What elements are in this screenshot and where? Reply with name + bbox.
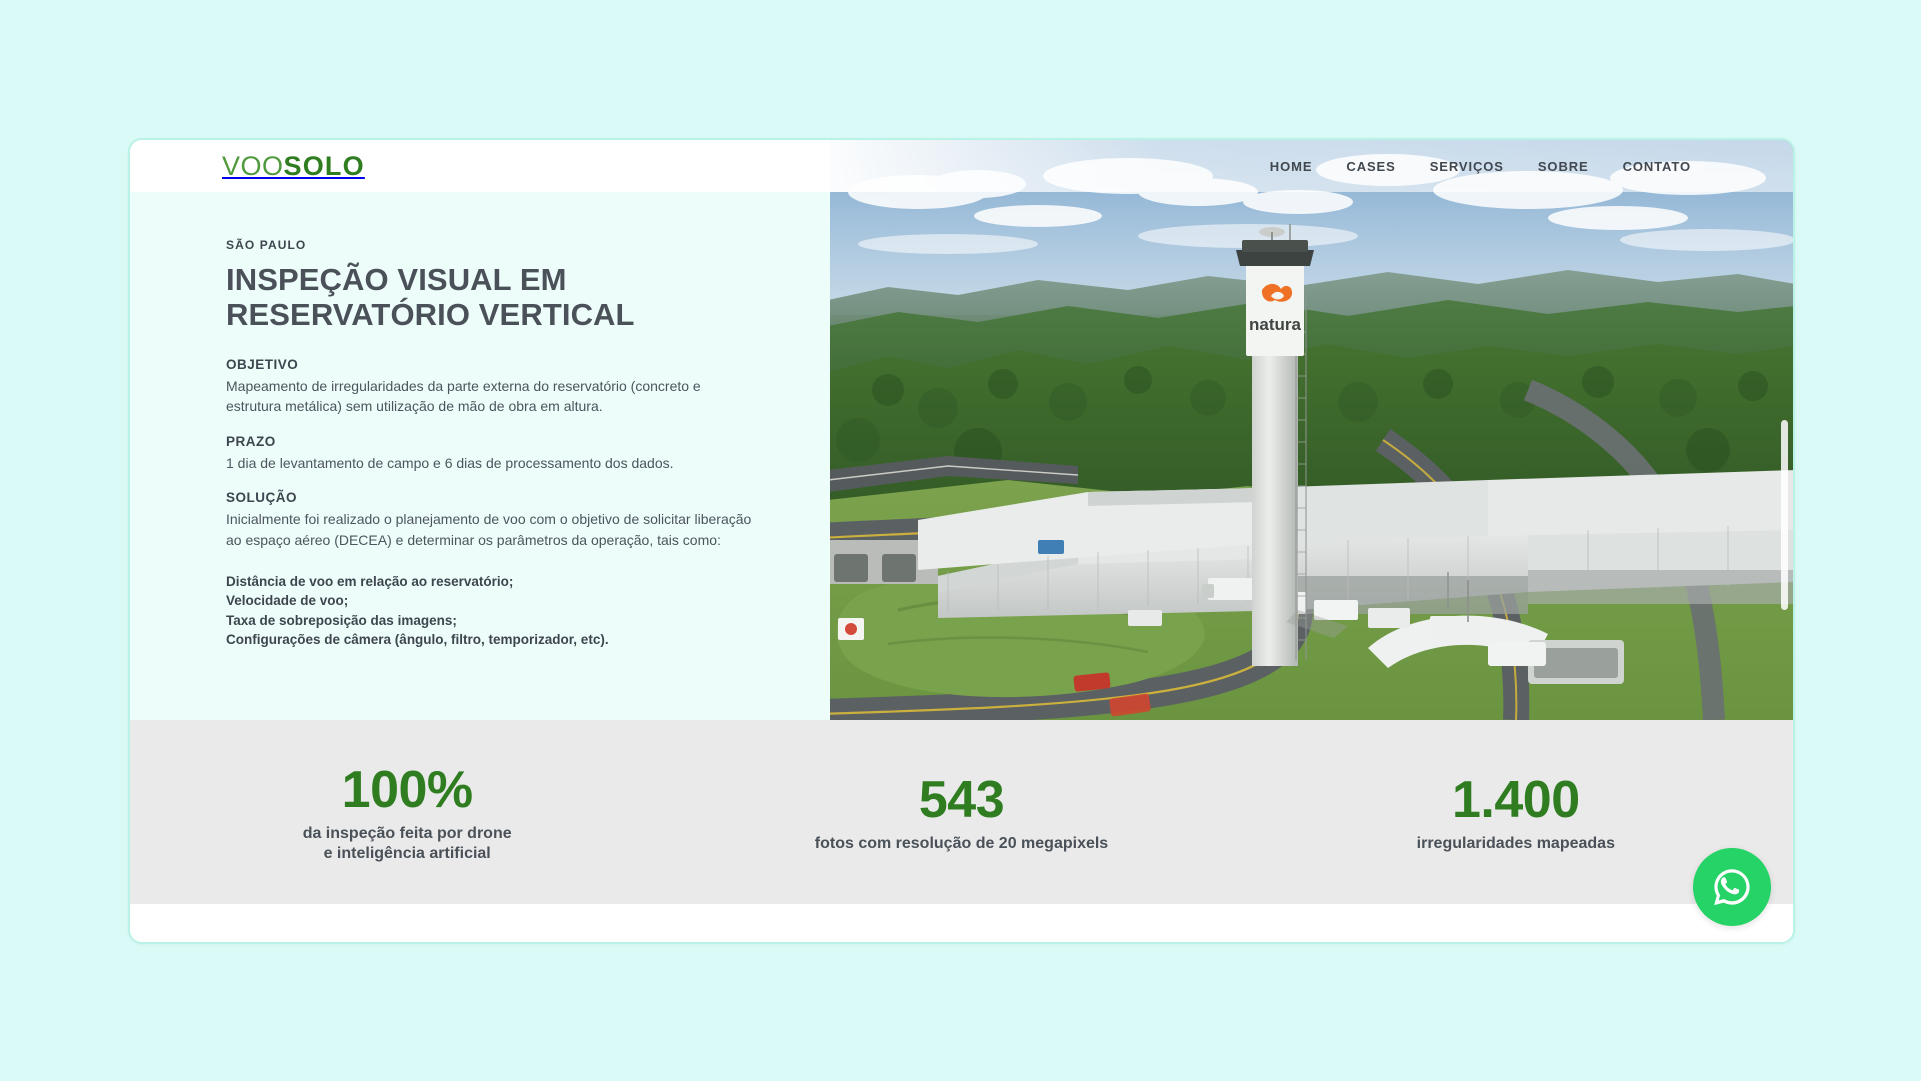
location-eyebrow: SÃO PAULO <box>226 238 756 252</box>
aerial-photo-illustration: natura <box>830 140 1793 720</box>
section-solucao-body: Inicialmente foi realizado o planejament… <box>226 509 756 550</box>
tower-logo-text: natura <box>1249 315 1302 334</box>
stat-irregularities-mapped: 1.400 irregularidades mapeadas <box>1239 773 1793 854</box>
stat-value: 543 <box>694 773 1228 828</box>
page-title: INSPEÇÃO VISUAL EM RESERVATÓRIO VERTICAL <box>226 262 756 332</box>
stat-inspection-coverage: 100% da inspeção feita por drone e intel… <box>130 763 684 865</box>
section-objetivo-title: OBJETIVO <box>226 357 756 372</box>
logo-text-solo: SOLO <box>284 151 365 181</box>
stat-label: irregularidades mapeadas <box>1249 834 1783 855</box>
main-navigation: HOME CASES SERVIÇOS SOBRE CONTATO <box>1270 159 1691 174</box>
site-logo[interactable]: VOOSOLO <box>222 153 365 180</box>
nav-item-home[interactable]: HOME <box>1270 159 1313 174</box>
nav-item-sobre[interactable]: SOBRE <box>1538 159 1589 174</box>
hero-photo: natura <box>830 140 1793 720</box>
section-solucao: SOLUÇÃO Inicialmente foi realizado o pla… <box>226 490 756 550</box>
section-objetivo: OBJETIVO Mapeamento de irregularidades d… <box>226 357 756 417</box>
page-title-line-2: RESERVATÓRIO VERTICAL <box>226 297 635 332</box>
stats-band: 100% da inspeção feita por drone e intel… <box>130 720 1793 908</box>
hero-section: natura VOOSOLO HOME CASES <box>130 140 1793 720</box>
list-item: Configurações de câmera (ângulo, filtro,… <box>226 630 756 649</box>
whatsapp-icon <box>1708 863 1756 911</box>
section-prazo-title: PRAZO <box>226 434 756 449</box>
nav-item-contato[interactable]: CONTATO <box>1623 159 1691 174</box>
nav-item-cases[interactable]: CASES <box>1346 159 1395 174</box>
section-objetivo-body: Mapeamento de irregularidades da parte e… <box>226 376 756 417</box>
list-item: Distância de voo em relação ao reservató… <box>226 572 756 591</box>
page-scrollbar[interactable] <box>1780 140 1789 720</box>
logo-text-voo: VOO <box>222 151 284 181</box>
stat-label: da inspeção feita por drone e inteligênc… <box>140 824 674 866</box>
section-prazo: PRAZO 1 dia de levantamento de campo e 6… <box>226 434 756 473</box>
page-card: natura VOOSOLO HOME CASES <box>128 138 1795 944</box>
site-header: VOOSOLO HOME CASES SERVIÇOS SOBRE CONTAT… <box>130 140 1793 192</box>
whatsapp-button[interactable] <box>1693 848 1771 926</box>
stat-label: fotos com resolução de 20 megapixels <box>694 834 1228 855</box>
stat-value: 100% <box>140 763 674 818</box>
list-item: Velocidade de voo; <box>226 591 756 610</box>
parameters-list: Distância de voo em relação ao reservató… <box>226 572 756 649</box>
page-title-line-1: INSPEÇÃO VISUAL EM <box>226 262 567 297</box>
nav-item-servicos[interactable]: SERVIÇOS <box>1430 159 1504 174</box>
scrollbar-thumb[interactable] <box>1781 420 1788 610</box>
stat-photo-count: 543 fotos com resolução de 20 megapixels <box>684 773 1238 854</box>
list-item: Taxa de sobreposição das imagens; <box>226 611 756 630</box>
hero-copy: SÃO PAULO INSPEÇÃO VISUAL EM RESERVATÓRI… <box>226 238 756 649</box>
footer-strip <box>130 904 1793 942</box>
stat-value: 1.400 <box>1249 773 1783 828</box>
section-prazo-body: 1 dia de levantamento de campo e 6 dias … <box>226 453 756 473</box>
section-solucao-title: SOLUÇÃO <box>226 490 756 505</box>
